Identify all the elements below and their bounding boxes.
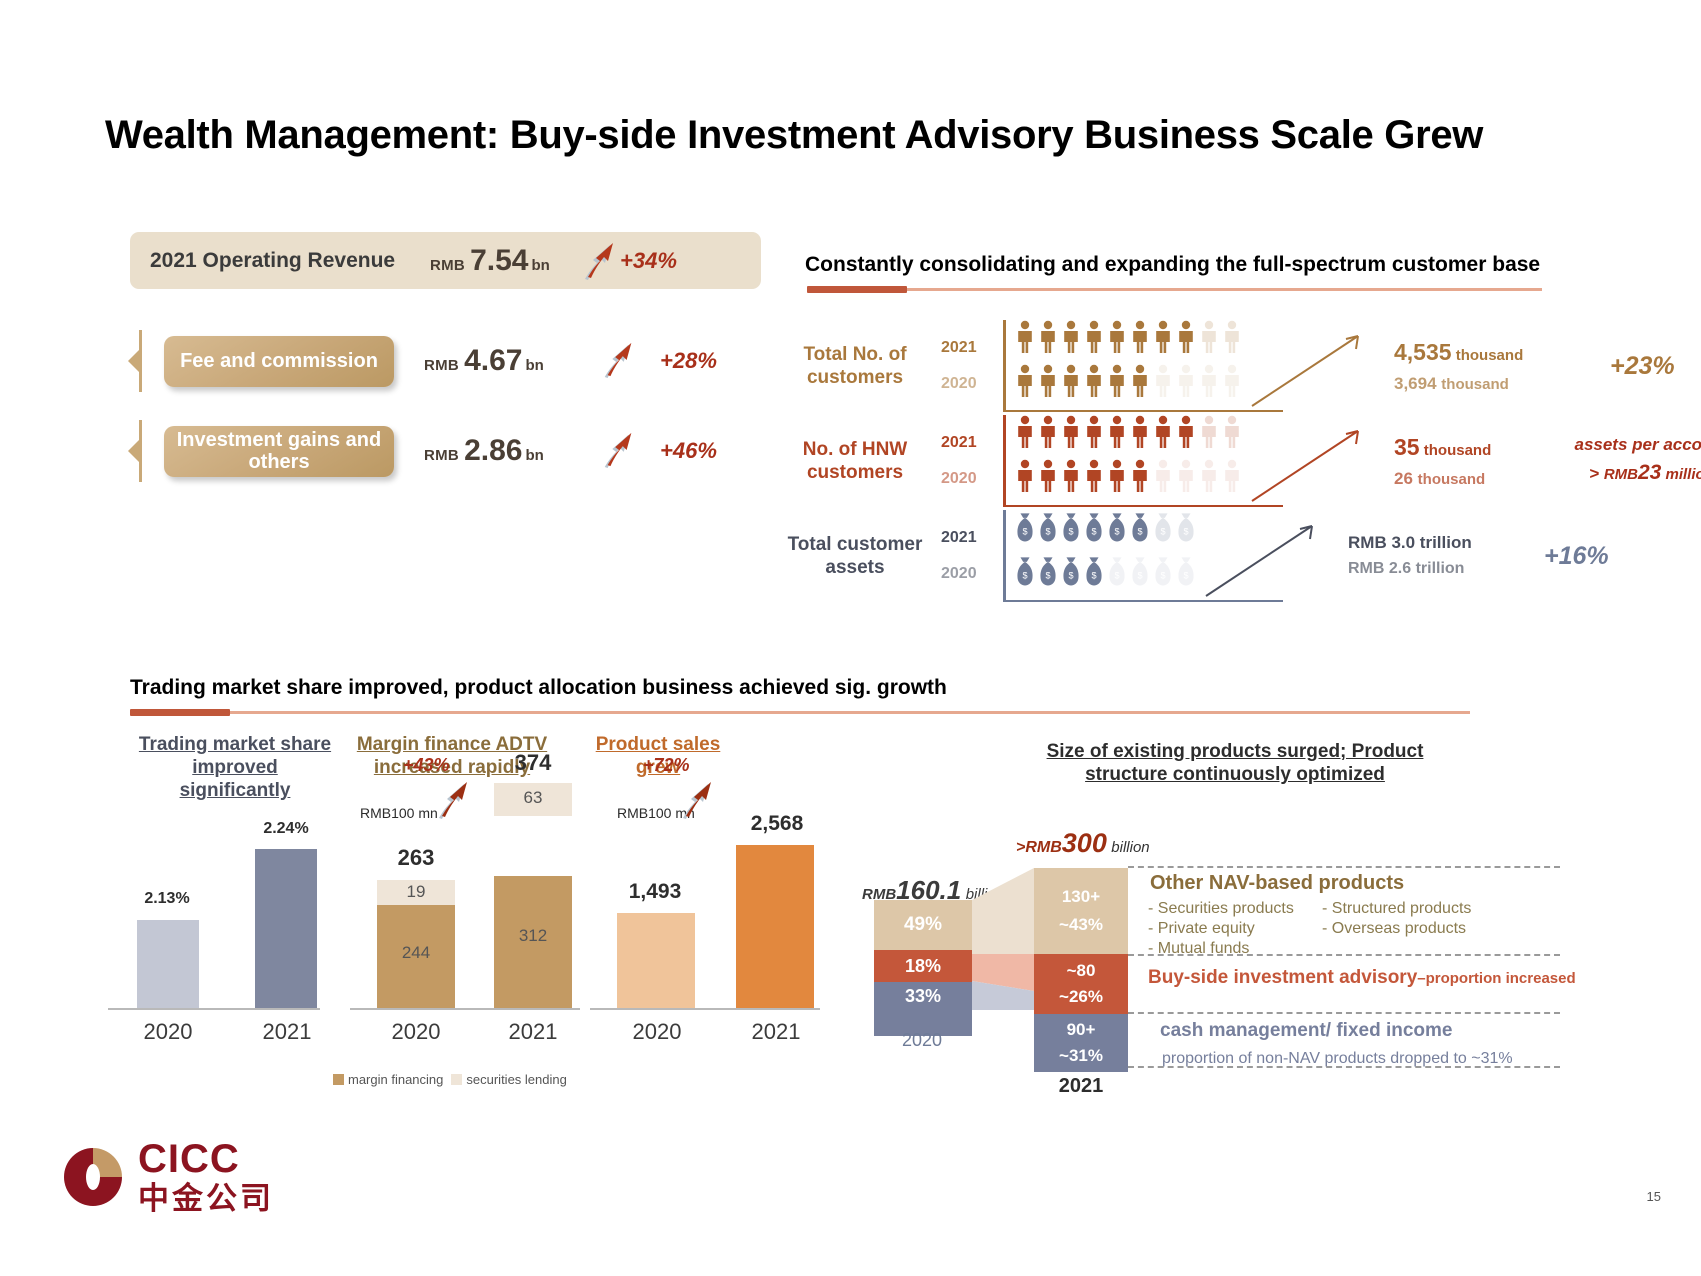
person-icon xyxy=(1130,415,1150,449)
svg-text:$: $ xyxy=(1091,570,1096,580)
pictogram-total-assets: $$$$$$$$$$$$$$$$ xyxy=(1003,510,1196,602)
cicc-logo-text: CICC 中金公司 xyxy=(138,1139,274,1214)
customer-row-label: Total No. of customers xyxy=(775,343,935,389)
person-icon xyxy=(1038,320,1058,354)
annotation-cash-management-title: cash management/ fixed income xyxy=(1160,1020,1453,1042)
chart3-label-2020: 1,493 xyxy=(600,880,710,904)
person-icon xyxy=(1015,364,1035,398)
value-new: 4,535 xyxy=(1394,339,1452,365)
person-icon xyxy=(1199,415,1219,449)
chart2-bar-2020-margin-financing: 244 xyxy=(377,905,455,1008)
chart1-bar-2020 xyxy=(137,920,199,1008)
chart4-dash-top xyxy=(1128,866,1560,868)
bracket-icon xyxy=(130,420,152,482)
chart2-xtick-2020: 2020 xyxy=(366,1019,466,1045)
chart4-2020-seg-other-nav: 49% xyxy=(874,900,972,950)
money-bag-icon: $ xyxy=(1107,554,1127,588)
money-bag-icon: $ xyxy=(1015,510,1035,544)
pictogram-row: $$$$$$$$ xyxy=(1015,554,1196,588)
chart1-label-2021: 2.24% xyxy=(236,820,336,838)
amount-unit: bn xyxy=(531,257,549,274)
chart2-xtick-2021: 2021 xyxy=(483,1019,583,1045)
pictogram-row xyxy=(1015,320,1242,354)
svg-text:$: $ xyxy=(1045,526,1050,536)
person-icon xyxy=(1130,320,1150,354)
money-bag-icon: $ xyxy=(1061,554,1081,588)
annotation-buyside-title: Buy-side investment advisory xyxy=(1148,967,1417,988)
trend-arrow-icon xyxy=(1246,322,1376,410)
person-icon xyxy=(1015,320,1035,354)
revenue-item-investment-gains: Investment gains and others RMB 2.86 bn … xyxy=(130,420,717,482)
customer-row-label: No. of HNW customers xyxy=(775,438,935,484)
arrow-up-icon xyxy=(434,775,474,828)
person-icon xyxy=(1061,364,1081,398)
customer-row-total-customers: Total No. of customers 2021 2020 4,535 t… xyxy=(775,320,1675,412)
arrow-up-icon xyxy=(580,239,620,279)
person-icon xyxy=(1015,415,1035,449)
svg-text:$: $ xyxy=(1160,570,1165,580)
customer-row-total-assets: Total customer assets 2021 2020 $$$$$$$$… xyxy=(775,510,1609,602)
share-label: ~31% xyxy=(1059,1046,1103,1066)
chart2-total-2020: 263 xyxy=(366,845,466,871)
chart3-bar-2021 xyxy=(736,845,814,1008)
person-icon xyxy=(1084,320,1104,354)
operating-revenue-amount: RMB 7.54 bn xyxy=(430,244,550,278)
legend-item-margin-financing: margin financing xyxy=(333,1072,443,1087)
revenue-item-label: Investment gains and others xyxy=(164,426,394,477)
chart3-label-2021: 2,568 xyxy=(722,812,832,836)
person-icon xyxy=(1199,320,1219,354)
chart4-2020-seg-cash-fixed-income: 33% xyxy=(874,982,972,1036)
revenue-item-amount: RMB 2.86 bn xyxy=(424,434,584,468)
pictogram-row xyxy=(1015,415,1242,449)
year-old-label: 2020 xyxy=(941,470,977,488)
chart1-xtick-2021: 2021 xyxy=(237,1019,337,1045)
svg-text:$: $ xyxy=(1114,526,1119,536)
person-icon xyxy=(1153,415,1173,449)
svg-text:$: $ xyxy=(1183,526,1188,536)
currency-label: RMB xyxy=(430,257,465,274)
slide-root: Wealth Management: Buy-side Investment A… xyxy=(0,0,1701,1276)
person-icon xyxy=(1061,415,1081,449)
chart3-bar-2020 xyxy=(617,913,695,1008)
legend-label: securities lending xyxy=(466,1072,566,1087)
chart4-2021-seg-cash-fixed-income: 90+ ~31% xyxy=(1034,1014,1128,1072)
legend-item-securities-lending: securities lending xyxy=(451,1072,566,1087)
money-bag-icon: $ xyxy=(1153,554,1173,588)
svg-text:$: $ xyxy=(1114,570,1119,580)
money-bag-icon: $ xyxy=(1130,554,1150,588)
svg-text:$: $ xyxy=(1137,570,1142,580)
lower-section-rule xyxy=(130,711,1470,714)
annotation-bullet-securities: - Securities products xyxy=(1148,900,1294,918)
chart4-xtick-2020: 2020 xyxy=(872,1030,972,1051)
note-line-1: assets per account xyxy=(1544,433,1701,458)
value-new: RMB 3.0 trillion xyxy=(1348,530,1538,556)
chart2-legend: margin financing securities lending xyxy=(333,1072,567,1087)
value-label: 90+ xyxy=(1067,1020,1096,1040)
year-new-label: 2021 xyxy=(941,434,977,452)
logo-en: CICC xyxy=(138,1139,274,1179)
person-icon xyxy=(1222,364,1242,398)
annotation-bullet-structured: - Structured products xyxy=(1322,900,1471,918)
svg-text:$: $ xyxy=(1091,526,1096,536)
value-old: RMB 2.6 trillion xyxy=(1348,557,1538,582)
chart3-xtick-2021: 2021 xyxy=(726,1019,826,1045)
revenue-item-amount: RMB 4.67 bn xyxy=(424,344,584,378)
customer-base-rule xyxy=(807,288,1542,291)
amount-value: 4.67 xyxy=(464,344,522,378)
annotation-non-nav-note: proportion of non-NAV products dropped t… xyxy=(1162,1050,1513,1068)
year-new-label: 2021 xyxy=(941,339,977,357)
chart2-seg-value-margin-2020: 244 xyxy=(377,943,455,963)
svg-text:$: $ xyxy=(1022,570,1027,580)
svg-text:$: $ xyxy=(1160,526,1165,536)
hnw-assets-note: assets per account > RMB23 million xyxy=(1544,433,1701,488)
annotation-bullet-overseas: - Overseas products xyxy=(1322,920,1466,938)
arrow-up-icon xyxy=(678,775,718,828)
note-prefix: > xyxy=(1589,464,1604,483)
pictogram-row: $$$$$$$$ xyxy=(1015,510,1196,544)
annotation-buyside: Buy-side investment advisory–proportion … xyxy=(1148,967,1576,989)
note-value: 23 xyxy=(1638,461,1661,484)
person-icon xyxy=(1107,459,1127,493)
arrow-up-icon xyxy=(600,429,638,474)
person-icon xyxy=(1038,415,1058,449)
currency-label: RMB xyxy=(424,447,459,464)
svg-text:$: $ xyxy=(1183,570,1188,580)
svg-text:$: $ xyxy=(1045,570,1050,580)
logo-cn: 中金公司 xyxy=(138,1183,274,1214)
unit-old: thousand xyxy=(1418,471,1486,488)
value-label: 130+ xyxy=(1062,887,1100,907)
money-bag-icon: $ xyxy=(1107,510,1127,544)
cicc-logo: CICC 中金公司 xyxy=(62,1139,274,1214)
chart2-seg-value-lending-2020: 19 xyxy=(377,882,455,902)
person-icon xyxy=(1176,320,1196,354)
legend-swatch xyxy=(451,1074,462,1085)
amount-value: 7.54 xyxy=(470,244,528,278)
person-icon xyxy=(1222,320,1242,354)
chart4-2021-seg-other-nav: 130+ ~43% xyxy=(1034,868,1128,954)
person-icon xyxy=(1176,364,1196,398)
money-bag-icon: $ xyxy=(1130,510,1150,544)
money-bag-icon: $ xyxy=(1084,554,1104,588)
pictogram-hnw-customers xyxy=(1003,415,1242,507)
person-icon xyxy=(1153,320,1173,354)
change-badge: +16% xyxy=(1544,542,1609,571)
legend-swatch xyxy=(333,1074,344,1085)
trend-arrow-icon xyxy=(1246,417,1376,505)
chart2-unit-label: RMB100 mn xyxy=(360,805,438,821)
chart2-bar-2020-securities-lending: 19 xyxy=(377,880,455,905)
svg-text:$: $ xyxy=(1068,570,1073,580)
unit-new: thousand xyxy=(1424,442,1492,459)
value-label: ~80 xyxy=(1067,961,1096,981)
money-bag-icon: $ xyxy=(1038,510,1058,544)
money-bag-icon: $ xyxy=(1084,510,1104,544)
amount-unit: bn xyxy=(525,357,543,374)
person-icon xyxy=(1153,459,1173,493)
svg-text:$: $ xyxy=(1137,526,1142,536)
note-unit: million xyxy=(1661,466,1701,483)
chart4-2021-seg-buyside: ~80 ~26% xyxy=(1034,954,1128,1014)
chart2-seg-value-lending-2021: 63 xyxy=(494,788,572,808)
pictogram-row xyxy=(1015,459,1242,493)
currency-label: RMB xyxy=(424,357,459,374)
chart3-axis xyxy=(590,1008,820,1010)
person-icon xyxy=(1222,415,1242,449)
share-label: ~26% xyxy=(1059,987,1103,1007)
amount-unit: bn xyxy=(525,447,543,464)
year-new-label: 2021 xyxy=(941,529,977,547)
page-title: Wealth Management: Buy-side Investment A… xyxy=(105,113,1483,158)
chart4-title-text: Size of existing products surged; Produc… xyxy=(1047,741,1424,785)
share-label: 33% xyxy=(905,986,941,1007)
trend-arrow-icon xyxy=(1200,512,1330,600)
annotation-buyside-suffix: –proportion increased xyxy=(1417,970,1575,987)
person-icon xyxy=(1130,459,1150,493)
person-icon xyxy=(1015,459,1035,493)
chart-title-product-structure: Size of existing products surged; Produc… xyxy=(1015,740,1455,786)
person-icon xyxy=(1038,364,1058,398)
revenue-item-fee-and-commission: Fee and commission RMB 4.67 bn +28% xyxy=(130,330,717,392)
chart1-axis xyxy=(108,1008,320,1010)
revenue-item-change: +46% xyxy=(660,438,717,464)
lower-section-heading: Trading market share improved, product a… xyxy=(130,676,947,700)
money-bag-icon: $ xyxy=(1176,554,1196,588)
chart3-xtick-2020: 2020 xyxy=(607,1019,707,1045)
money-bag-icon: $ xyxy=(1061,510,1081,544)
person-icon xyxy=(1107,415,1127,449)
chart3-growth-label: +72% xyxy=(643,755,690,776)
annotation-bullet-mutual-funds: - Mutual funds xyxy=(1148,940,1249,958)
customer-row-hnw-customers: No. of HNW customers 2021 2020 35 thousa… xyxy=(775,415,1701,507)
note-line-2: > RMB23 million xyxy=(1544,458,1701,488)
chart2-axis xyxy=(350,1008,580,1010)
person-icon xyxy=(1222,459,1242,493)
svg-text:$: $ xyxy=(1022,526,1027,536)
customer-row-label: Total customer assets xyxy=(775,533,935,579)
chart2-bar-2021-margin-financing: 312 xyxy=(494,876,572,1008)
customer-base-heading: Constantly consolidating and expanding t… xyxy=(805,253,1540,277)
value-old: 26 xyxy=(1394,469,1413,488)
change-badge: +23% xyxy=(1610,352,1675,381)
operating-revenue-banner: 2021 Operating Revenue RMB 7.54 bn +34% xyxy=(130,232,761,289)
unit-old: thousand xyxy=(1441,376,1509,393)
chart4-2020-seg-buyside: 18% xyxy=(874,950,972,982)
arrow-up-icon xyxy=(600,339,638,384)
value-old: 3,694 xyxy=(1394,374,1437,393)
share-label: 18% xyxy=(905,956,941,977)
svg-text:$: $ xyxy=(1068,526,1073,536)
share-label: 49% xyxy=(904,914,942,936)
bracket-icon xyxy=(130,330,152,392)
operating-revenue-label: 2021 Operating Revenue xyxy=(150,249,395,273)
year-old-label: 2020 xyxy=(941,565,977,583)
person-icon xyxy=(1176,415,1196,449)
page-number: 15 xyxy=(1647,1189,1661,1204)
person-icon xyxy=(1084,459,1104,493)
money-bag-icon: $ xyxy=(1038,554,1058,588)
year-old-label: 2020 xyxy=(941,375,977,393)
person-icon xyxy=(1176,459,1196,493)
revenue-item-label: Fee and commission xyxy=(164,336,394,387)
chart4-xtick-2021: 2021 xyxy=(1031,1075,1131,1098)
chart2-total-2021: 374 xyxy=(483,750,583,776)
note-currency: RMB xyxy=(1604,466,1638,483)
unit-new: thousand xyxy=(1456,347,1524,364)
person-icon xyxy=(1107,320,1127,354)
person-icon xyxy=(1061,320,1081,354)
chart2-seg-value-margin-2021: 312 xyxy=(494,926,572,946)
pictogram-row xyxy=(1015,364,1242,398)
cicc-logo-mark xyxy=(62,1146,124,1208)
person-icon xyxy=(1153,364,1173,398)
chart4-dash-mid2 xyxy=(1128,1012,1560,1014)
share-label: ~43% xyxy=(1059,915,1103,935)
money-bag-icon: $ xyxy=(1153,510,1173,544)
chart1-bar-2021 xyxy=(255,849,317,1008)
person-icon xyxy=(1084,415,1104,449)
value-new: 35 xyxy=(1394,434,1420,460)
person-icon xyxy=(1038,459,1058,493)
person-icon xyxy=(1061,459,1081,493)
revenue-item-change: +28% xyxy=(660,348,717,374)
chart2-growth-label: +43% xyxy=(403,755,450,776)
money-bag-icon: $ xyxy=(1176,510,1196,544)
person-icon xyxy=(1107,364,1127,398)
chart2-bar-2021-securities-lending: 63 xyxy=(494,783,572,816)
legend-label: margin financing xyxy=(348,1072,443,1087)
pictogram-total-customers xyxy=(1003,320,1242,412)
chart-title-trading-share: Trading market share improved significan… xyxy=(135,733,335,803)
person-icon xyxy=(1084,364,1104,398)
chart1-label-2020: 2.13% xyxy=(117,890,217,908)
person-icon xyxy=(1199,459,1219,493)
person-icon xyxy=(1130,364,1150,398)
amount-value: 2.86 xyxy=(464,434,522,468)
money-bag-icon: $ xyxy=(1015,554,1035,588)
operating-revenue-change: +34% xyxy=(620,248,677,274)
person-icon xyxy=(1199,364,1219,398)
chart1-xtick-2020: 2020 xyxy=(118,1019,218,1045)
annotation-bullet-private-equity: - Private equity xyxy=(1148,920,1255,938)
annotation-other-nav-title: Other NAV-based products xyxy=(1150,872,1404,895)
